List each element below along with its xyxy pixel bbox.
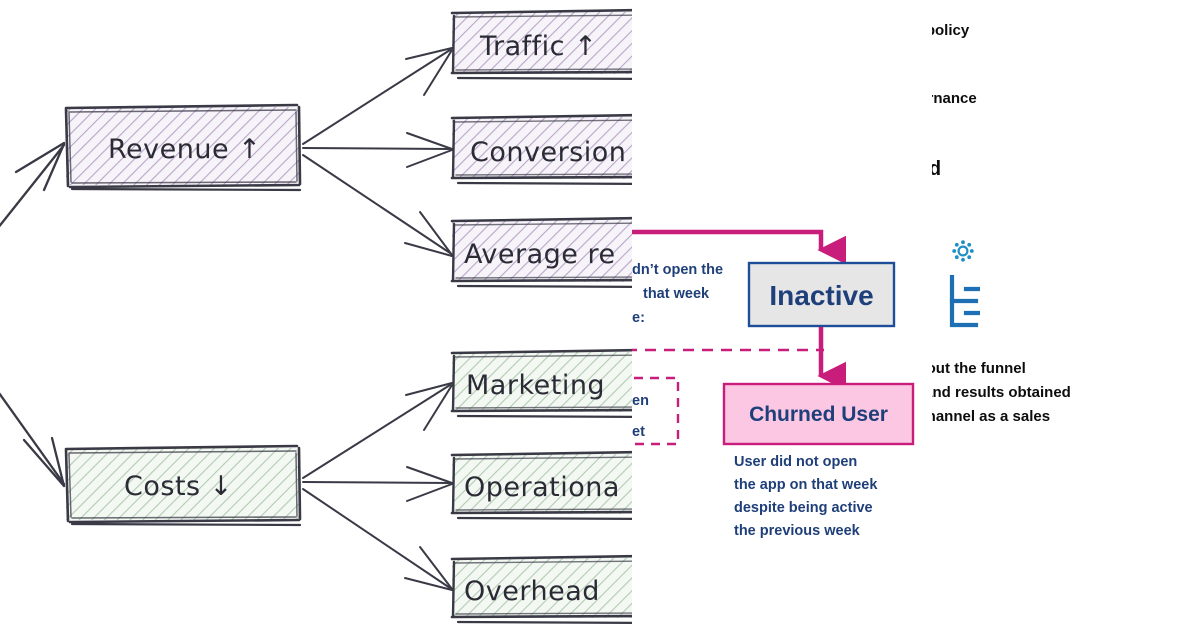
sketch-node-overhead-label: Overhead <box>464 576 600 607</box>
flow-node-inactive: Inactive <box>749 263 894 326</box>
sketch-connector-incoming-revenue <box>0 143 64 248</box>
sketch-connector-costs-marketing <box>303 383 452 478</box>
gear-icon <box>950 238 976 269</box>
sketch-connector-costs-operational <box>303 467 452 501</box>
svg-text:the app on that week: the app on that week <box>734 477 878 493</box>
svg-text:that week: that week <box>643 286 710 302</box>
sketch-node-marketing: Marketing <box>452 350 632 417</box>
clipped-text-panel: centive policy on nd governance ent and … <box>932 0 1200 630</box>
flow-chart-panel: Inactive Churned User dn’t open the that… <box>632 0 932 630</box>
sketch-node-conversion: Conversion <box>452 115 632 184</box>
svg-text:et: et <box>632 424 645 440</box>
sketch-node-overhead: Overhead <box>452 556 632 623</box>
sketch-connector-incoming-costs <box>0 372 64 486</box>
svg-text:dn’t open the: dn’t open the <box>632 262 723 278</box>
sketch-connector-revenue-traffic <box>303 48 452 144</box>
svg-text:the previous week: the previous week <box>734 523 861 539</box>
text-line: digital channel as a sales <box>932 408 1050 425</box>
hierarchy-icon <box>946 275 980 336</box>
text-line: nd governance <box>932 90 977 107</box>
text-line: throughout the funnel <box>932 360 1026 377</box>
text-line: ptation and results obtained <box>932 384 1071 401</box>
svg-text:en: en <box>632 393 649 409</box>
sketch-connector-revenue-conversion <box>303 133 452 167</box>
flow-dashed-box-clipped-text: en et <box>632 393 649 440</box>
svg-text:despite being active: despite being active <box>734 500 873 516</box>
svg-text:User did not open: User did not open <box>734 454 857 470</box>
sketch-node-costs: Costs ↓ <box>66 446 300 525</box>
svg-text:e:: e: <box>632 310 645 326</box>
sketch-diagram-panel: Revenue ↑ Costs ↓ Traffic ↑ <box>0 0 632 630</box>
flow-churned-caption: User did not open the app on that week d… <box>734 454 878 539</box>
sketch-node-operational: Operationa <box>452 452 632 519</box>
text-line: ent and <box>932 158 941 181</box>
sketch-node-traffic: Traffic ↑ <box>452 10 632 79</box>
sketch-node-conversion-label: Conversion <box>470 137 626 168</box>
sketch-node-average-revenue-label: Average re <box>464 239 616 270</box>
sketch-node-traffic-label: Traffic ↑ <box>479 31 597 62</box>
flow-node-inactive-label: Inactive <box>769 280 873 311</box>
screenshot-stage: Revenue ↑ Costs ↓ Traffic ↑ <box>0 0 1200 630</box>
sketch-node-operational-label: Operationa <box>464 472 620 503</box>
sketch-node-marketing-label: Marketing <box>466 370 605 401</box>
sketch-connector-costs-overhead <box>303 489 452 590</box>
text-line: centive policy <box>932 22 969 39</box>
sketch-node-revenue-label: Revenue ↑ <box>108 134 261 165</box>
sketch-node-revenue: Revenue ↑ <box>66 105 300 190</box>
flow-node-churned-user: Churned User <box>724 384 913 444</box>
flow-node-churned-user-label: Churned User <box>749 403 888 426</box>
sketch-connector-revenue-average <box>303 155 452 256</box>
flow-arrow-into-inactive <box>632 232 821 250</box>
sketch-node-costs-label: Costs ↓ <box>124 471 233 502</box>
sketch-node-average-revenue: Average re <box>452 218 632 287</box>
flow-left-clipped-text: dn’t open the that week e: <box>632 262 723 326</box>
